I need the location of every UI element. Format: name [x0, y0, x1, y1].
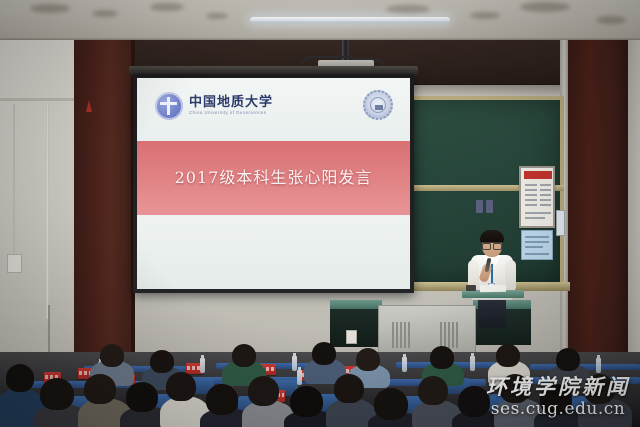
university-name-cn: 中国地质大学 [189, 96, 273, 110]
blackboard-magnet-icon [476, 200, 483, 213]
ceiling-stain [386, 5, 430, 14]
wall-notice-board [519, 166, 555, 228]
slide-header: 中国地质大学 China University of Geosciences [137, 78, 410, 141]
water-bottle [470, 356, 475, 371]
podium-object [466, 285, 476, 291]
wall-cord [13, 104, 15, 256]
ceiling-stain [470, 12, 500, 19]
ceiling-stain [596, 16, 626, 24]
audience-head [40, 378, 74, 410]
presentation-slide: 中国地质大学 China University of Geosciences 2… [137, 78, 410, 289]
audience-head [206, 384, 238, 415]
speaker-trousers [478, 298, 506, 328]
watermark: 环境学院新闻 ses.cug.edu.cn [486, 375, 630, 419]
fluorescent-tube-icon [250, 17, 450, 23]
cug-circle-logo-icon [155, 92, 183, 120]
notice-header-band [524, 171, 552, 179]
audience-head [248, 376, 279, 406]
watermark-url: ses.cug.edu.cn [486, 399, 630, 419]
audience-head [334, 374, 364, 403]
audience-head [166, 372, 196, 401]
ceiling-stain [150, 3, 184, 11]
blackboard-magnet-icon [486, 200, 493, 213]
audience-head [6, 364, 34, 392]
podium-speech-paper [480, 285, 506, 292]
audience-head [232, 344, 256, 367]
audience-head [374, 388, 408, 420]
speaker-right-arm [505, 260, 516, 292]
right-door[interactable] [568, 40, 628, 380]
wall-pipe [46, 104, 49, 319]
wall-seam [0, 98, 74, 101]
small-wall-frame [556, 210, 565, 236]
audience-head [150, 350, 174, 373]
university-logo: 中国地质大学 China University of Geosciences [155, 92, 273, 120]
water-bottle [596, 358, 601, 373]
audience-head [84, 374, 116, 404]
watermark-title-cn: 环境学院新闻 [486, 375, 630, 398]
ceiling-stain [206, 13, 228, 19]
lecture-hall-photo: 中国地质大学 China University of Geosciences 2… [0, 0, 640, 427]
university-seal-icon [363, 90, 393, 120]
water-bottle [292, 356, 297, 371]
eyeglasses-icon [482, 242, 502, 248]
left-wall [0, 40, 74, 370]
light-switch[interactable] [7, 254, 22, 273]
slide-title-text: 2017级本科生张心阳发言 [137, 164, 410, 188]
left-door[interactable] [74, 40, 134, 375]
ceiling-stain [30, 4, 70, 13]
projection-screen: 中国地质大学 China University of Geosciences 2… [133, 74, 414, 293]
water-bottle [297, 370, 302, 385]
wall-power-socket[interactable] [346, 330, 357, 344]
ceiling-stain [92, 10, 118, 17]
audience-head [496, 344, 520, 367]
audience-head [126, 382, 158, 412]
university-name-en: China University of Geosciences [189, 111, 273, 116]
audience-head [430, 346, 454, 369]
water-bottle [402, 357, 407, 372]
ceiling-stain [520, 2, 570, 12]
far-right-wall [628, 40, 640, 380]
audience-head [418, 376, 448, 405]
water-bottle [200, 358, 205, 373]
speaker-person [466, 228, 518, 323]
slide-footer [137, 215, 410, 289]
audience-head [100, 344, 124, 367]
audience-head [356, 348, 380, 371]
audience-head [312, 342, 336, 365]
audience-head [290, 386, 323, 417]
wall-notice-sheet [521, 230, 553, 260]
audience-head [556, 348, 580, 371]
